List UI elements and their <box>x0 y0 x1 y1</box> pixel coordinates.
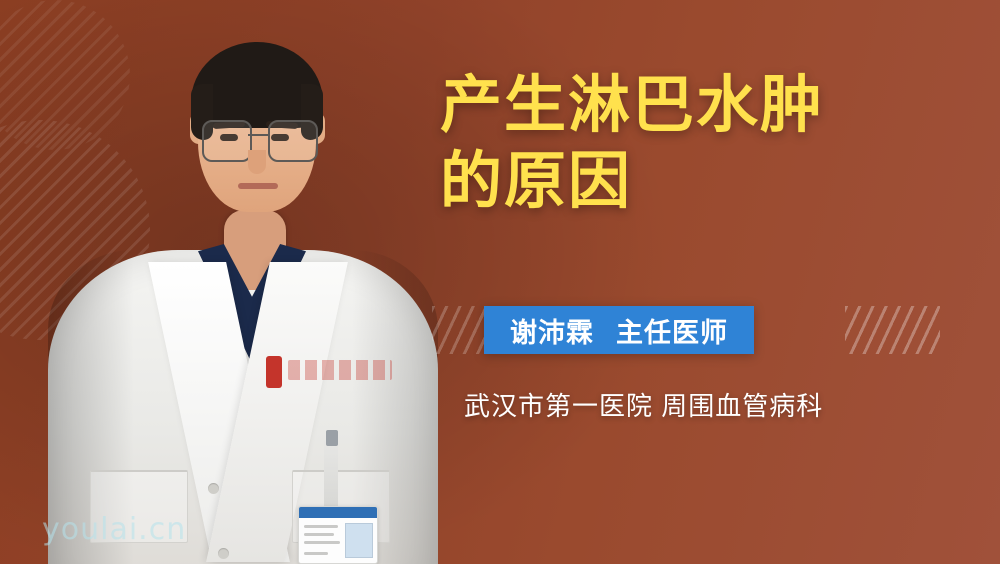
speaker-title: 主任医师 <box>616 311 728 350</box>
coat-button-upper <box>208 483 219 494</box>
decorative-hatch-right <box>845 306 940 354</box>
headline: 产生淋巴水肿 的原因 <box>440 68 980 219</box>
badge-text-line <box>304 552 328 555</box>
badge-portrait <box>345 523 373 558</box>
badge-text-line <box>304 525 338 528</box>
doctor-photo <box>30 0 450 564</box>
lens-right <box>268 120 318 162</box>
badge-clip <box>326 430 338 446</box>
decorative-hatch-left <box>432 306 484 354</box>
staff-id-badge <box>298 506 378 564</box>
site-watermark: youlai.cn <box>42 512 186 547</box>
headline-line-2: 的原因 <box>440 144 980 220</box>
nose <box>248 150 266 174</box>
thumbnail-canvas: 产生淋巴水肿 的原因 谢沛霖 主任医师 武汉市第一医院 周围血管病科 youla… <box>0 0 1000 564</box>
headline-line-1: 产生淋巴水肿 <box>440 68 980 144</box>
speaker-name-bar: 谢沛霖 主任医师 <box>484 306 754 354</box>
mouth <box>238 183 278 189</box>
coat-button-lower <box>218 548 229 559</box>
glasses-bridge <box>248 134 268 136</box>
badge-text-line <box>304 533 334 536</box>
chest-emblem <box>266 356 282 388</box>
badge-header-strip <box>299 507 377 518</box>
badge-text-line <box>304 541 340 544</box>
badge-lanyard <box>324 440 338 512</box>
chest-embroidery-text <box>288 360 392 380</box>
speaker-name: 谢沛霖 <box>510 311 594 350</box>
speaker-affiliation: 武汉市第一医院 周围血管病科 <box>464 386 823 423</box>
lens-left <box>202 120 252 162</box>
